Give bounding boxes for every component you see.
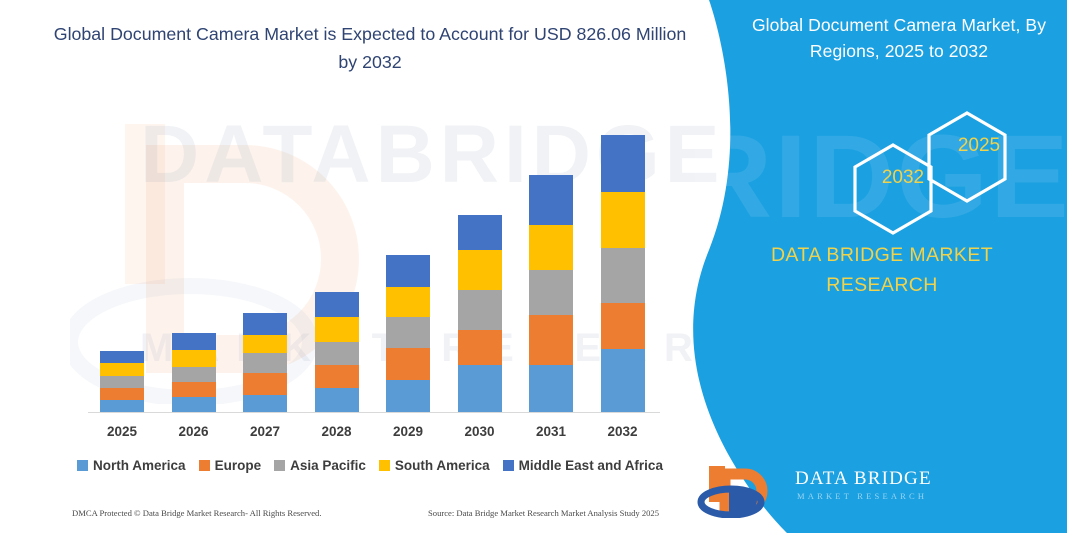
bar-segment	[243, 353, 287, 373]
bar-segment	[315, 342, 359, 365]
bar-segment	[100, 400, 144, 412]
chart-panel: Global Document Camera Market is Expecte…	[0, 0, 720, 533]
bar-segment	[529, 225, 573, 270]
bar-segment	[100, 376, 144, 388]
bar-segment	[601, 248, 645, 303]
legend-swatch	[379, 460, 390, 471]
bar-segment	[386, 380, 430, 412]
legend-label: North America	[93, 458, 186, 473]
x-axis-labels: 20252026202720282029203020312032	[88, 424, 660, 446]
bar-segment	[172, 333, 216, 350]
hexagon-2032-shape	[855, 145, 931, 233]
bar-segment	[601, 349, 645, 412]
stacked-bar-plot	[88, 110, 660, 412]
side-panel-brand: DATA BRIDGE MARKET RESEARCH	[727, 240, 1037, 300]
bar-segment	[243, 373, 287, 395]
legend-swatch	[77, 460, 88, 471]
legend-swatch	[199, 460, 210, 471]
hexagon-group: 2025 2032	[817, 105, 1057, 235]
hexagon-label-2032: 2032	[863, 167, 943, 189]
bar-segment	[172, 367, 216, 382]
bar-segment	[601, 135, 645, 192]
bar-segment	[458, 330, 502, 365]
legend-item[interactable]: North America	[77, 458, 186, 473]
bar-segment	[386, 287, 430, 317]
bar-column	[100, 351, 144, 412]
legend-item[interactable]: Middle East and Africa	[503, 458, 663, 473]
legend-swatch	[274, 460, 285, 471]
bar-column	[315, 292, 359, 412]
bar-segment	[458, 290, 502, 330]
infographic-root: Global Document Camera Market is Expecte…	[0, 0, 1067, 533]
bar-segment	[315, 388, 359, 412]
legend-item[interactable]: Europe	[199, 458, 262, 473]
x-axis-tick: 2028	[302, 424, 372, 439]
bar-column	[529, 175, 573, 412]
chart-legend: North AmericaEuropeAsia PacificSouth Ame…	[60, 458, 680, 473]
bar-segment	[100, 351, 144, 363]
hexagon-label-2025: 2025	[939, 135, 1019, 157]
bar-segment	[243, 395, 287, 412]
x-axis-tick: 2025	[87, 424, 157, 439]
bar-segment	[100, 363, 144, 376]
side-panel: RIDGE Global Document Camera Market, By …	[687, 0, 1067, 533]
bar-segment	[601, 192, 645, 248]
bar-segment	[529, 175, 573, 225]
x-axis-tick: 2026	[159, 424, 229, 439]
legend-item[interactable]: South America	[379, 458, 490, 473]
legend-swatch	[503, 460, 514, 471]
footer: DMCA Protected © Data Bridge Market Rese…	[0, 508, 700, 528]
bar-segment	[458, 250, 502, 290]
bar-segment	[386, 255, 430, 287]
dbmr-logomark-icon	[695, 462, 790, 518]
footer-copyright: DMCA Protected © Data Bridge Market Rese…	[72, 508, 322, 518]
bar-segment	[243, 335, 287, 353]
x-axis-tick: 2030	[445, 424, 515, 439]
legend-label: Middle East and Africa	[519, 458, 663, 473]
logo-text-sub: MARKET RESEARCH	[797, 491, 927, 501]
side-panel-title: Global Document Camera Market, By Region…	[739, 12, 1059, 64]
x-axis-tick: 2031	[516, 424, 586, 439]
brand-logo: DATA BRIDGE MARKET RESEARCH	[695, 462, 1055, 520]
x-axis-line	[88, 412, 660, 413]
bar-segment	[529, 270, 573, 315]
bar-segment	[458, 215, 502, 250]
bar-segment	[458, 365, 502, 412]
bar-segment	[601, 303, 645, 349]
x-axis-tick: 2027	[230, 424, 300, 439]
footer-source: Source: Data Bridge Market Research Mark…	[428, 508, 659, 518]
bar-segment	[386, 317, 430, 348]
bar-column	[386, 255, 430, 412]
bar-segment	[315, 365, 359, 388]
bar-segment	[172, 397, 216, 412]
bar-segment	[172, 382, 216, 397]
bar-column	[172, 333, 216, 412]
side-panel-content: RIDGE Global Document Camera Market, By …	[687, 0, 1067, 533]
bar-column	[458, 215, 502, 412]
bar-segment	[315, 292, 359, 317]
bar-column	[243, 313, 287, 412]
page-title: Global Document Camera Market is Expecte…	[50, 20, 690, 76]
bar-segment	[100, 388, 144, 400]
x-axis-tick: 2032	[588, 424, 658, 439]
bar-segment	[315, 317, 359, 342]
legend-label: Europe	[215, 458, 262, 473]
bar-segment	[172, 350, 216, 367]
bar-segment	[243, 313, 287, 335]
logo-text-main: DATA BRIDGE	[795, 468, 932, 490]
bar-column	[601, 135, 645, 412]
bar-segment	[386, 348, 430, 380]
x-axis-tick: 2029	[373, 424, 443, 439]
legend-label: South America	[395, 458, 490, 473]
legend-item[interactable]: Asia Pacific	[274, 458, 366, 473]
bar-segment	[529, 365, 573, 412]
legend-label: Asia Pacific	[290, 458, 366, 473]
bar-segment	[529, 315, 573, 365]
